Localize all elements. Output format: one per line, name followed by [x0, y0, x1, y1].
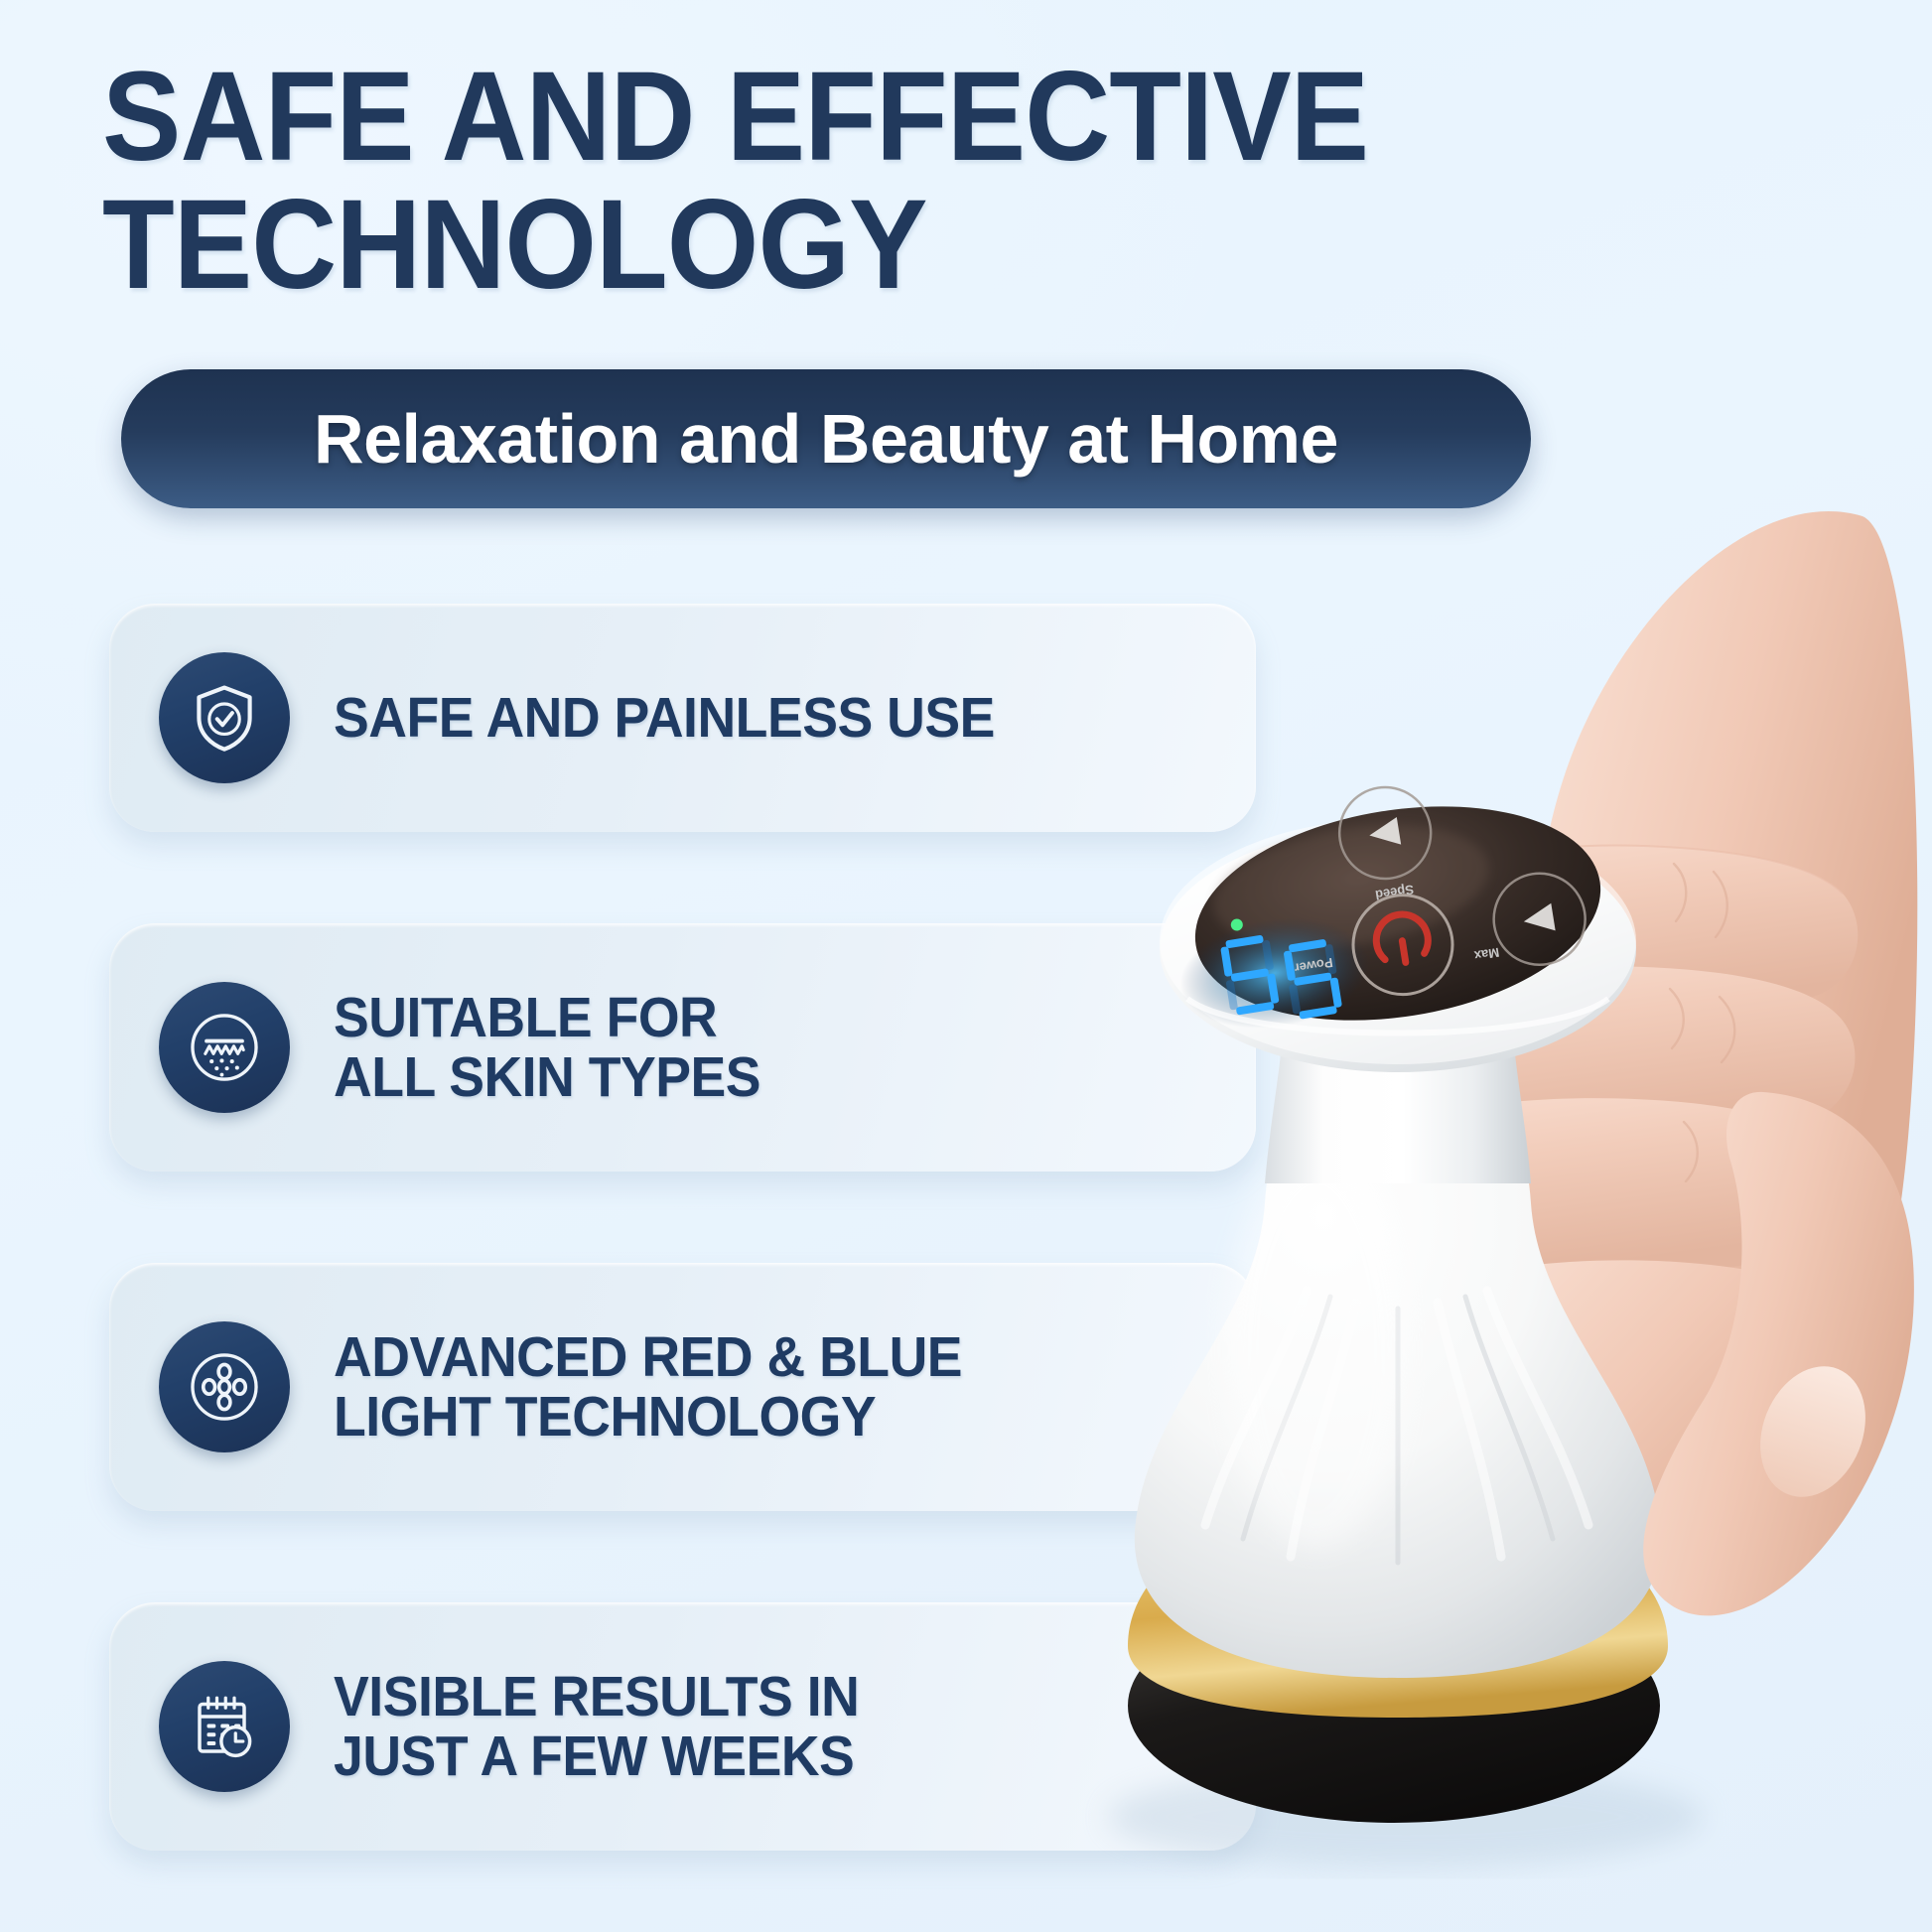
- title-line-2: TECHNOLOGY: [102, 190, 1487, 302]
- feature-card-label: SUITABLE FOR ALL SKIN TYPES: [334, 988, 760, 1108]
- title-line-1: SAFE AND EFFECTIVE: [102, 62, 1487, 174]
- device-neck: [1265, 993, 1531, 1183]
- led-digit-2: [1283, 938, 1343, 1021]
- thumb-graphic: [1643, 1092, 1914, 1615]
- feature-card-label: ADVANCED RED & BLUE LIGHT TECHNOLOGY: [334, 1327, 962, 1448]
- finger-ring: [1482, 879, 1583, 965]
- page-title: SAFE AND EFFECTIVE TECHNOLOGY: [102, 62, 1591, 301]
- infographic-canvas: SAFE AND EFFECTIVE TECHNOLOGY Relaxation…: [0, 0, 1932, 1932]
- feature-card-all-skin-types: SUITABLE FOR ALL SKIN TYPES: [109, 923, 1256, 1172]
- feature-card-label: SAFE AND PAINLESS USE: [334, 688, 995, 748]
- skin-layers-icon: [159, 982, 290, 1113]
- subtitle-banner: Relaxation and Beauty at Home: [121, 369, 1531, 508]
- feature-card-safe-painless: SAFE AND PAINLESS USE: [109, 604, 1256, 832]
- subtitle-banner-text: Relaxation and Beauty at Home: [314, 399, 1338, 479]
- feature-card-light-technology: ADVANCED RED & BLUE LIGHT TECHNOLOGY: [109, 1263, 1256, 1511]
- power-label: Power: [1294, 955, 1334, 976]
- shield-check-icon: [159, 652, 290, 783]
- feature-card-list: SAFE AND PAINLESS USE SUITABLE FOR A: [109, 604, 1261, 1851]
- max-button: [1487, 867, 1591, 971]
- feature-card-label: VISIBLE RESULTS IN JUST A FEW WEEKS: [334, 1667, 859, 1787]
- speed-label: Speed: [1374, 882, 1415, 902]
- speed-button: [1333, 780, 1438, 885]
- feature-card-visible-results: VISIBLE RESULTS IN JUST A FEW WEEKS: [109, 1602, 1256, 1851]
- calendar-clock-icon: [159, 1661, 290, 1792]
- power-button: [1346, 888, 1459, 1001]
- max-label: Max: [1472, 945, 1500, 964]
- led-lights-icon: [159, 1321, 290, 1452]
- hand-graphic: [1291, 511, 1917, 1505]
